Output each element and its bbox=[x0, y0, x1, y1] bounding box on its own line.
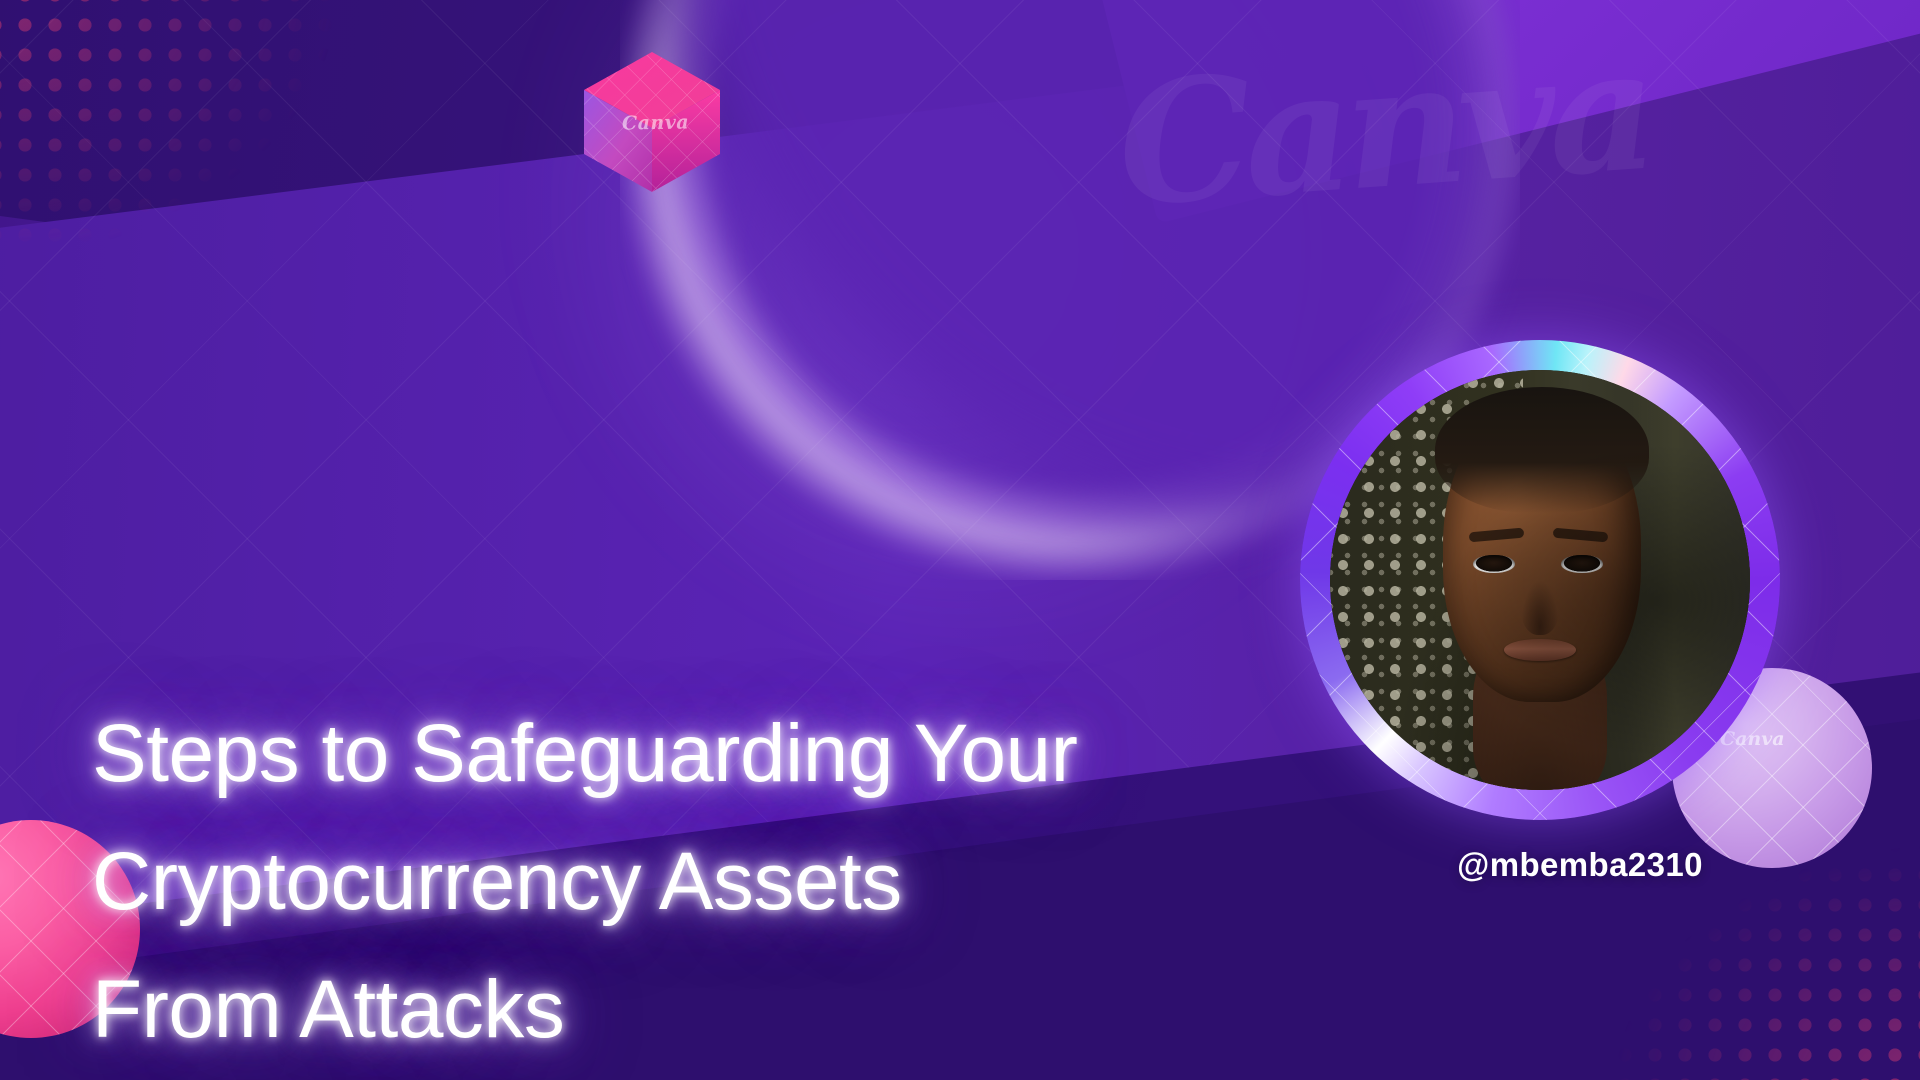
canva-watermark-large: Canva bbox=[1112, 10, 1656, 245]
banner-title: Steps to Safeguarding Your Cryptocurrenc… bbox=[92, 690, 1272, 1074]
avatar[interactable] bbox=[1300, 340, 1780, 820]
title-line-1: Steps to Safeguarding Your bbox=[92, 690, 1272, 818]
social-banner: Canva bbox=[0, 0, 1920, 1080]
title-line-3: From Attacks bbox=[92, 946, 1272, 1074]
canva-watermark-cube: Canva bbox=[622, 111, 689, 134]
halftone-dots-top-left bbox=[0, 0, 440, 340]
avatar-photo bbox=[1330, 370, 1750, 790]
photo-shading bbox=[1330, 370, 1750, 790]
user-handle: @mbemba2310 bbox=[1430, 846, 1730, 884]
isometric-cube-icon: Canva bbox=[578, 48, 726, 196]
title-line-2: Cryptocurrency Assets bbox=[92, 818, 1272, 946]
